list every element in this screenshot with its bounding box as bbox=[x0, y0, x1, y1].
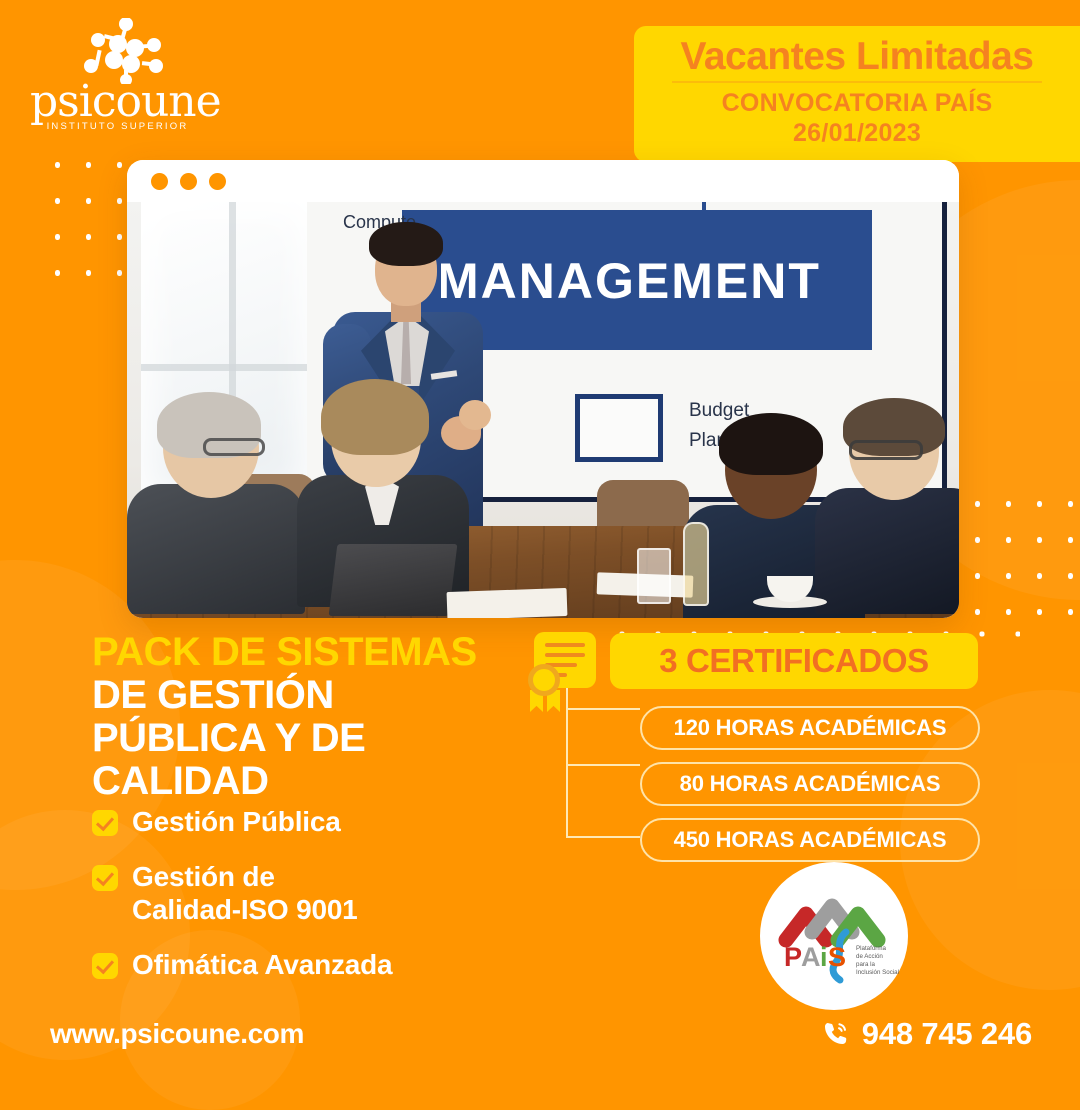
pais-logo-icon: P A i S Plataforma de Acción para la Inc… bbox=[760, 862, 908, 1010]
paper-sheet bbox=[447, 588, 568, 618]
laptop bbox=[329, 544, 458, 616]
svg-text:P: P bbox=[784, 942, 802, 972]
certificate-hours-item: 450 HORAS ACADÉMICAS bbox=[640, 818, 980, 862]
pack-title-line2: DE GESTIÓN bbox=[92, 675, 562, 716]
banner-divider bbox=[672, 81, 1042, 83]
list-item-label: Gestión de Calidad-ISO 9001 bbox=[132, 860, 358, 926]
photo-card: MANAGEMENT Budget Planning Compute bbox=[127, 160, 959, 618]
attendee-figure bbox=[141, 398, 291, 598]
pack-title: PACK DE SISTEMAS DE GESTIÓN PÚBLICA Y DE… bbox=[92, 632, 562, 802]
brand-logo: psicoune INSTITUTO SUPERIOR bbox=[30, 18, 205, 128]
phone-call-icon bbox=[820, 1019, 850, 1049]
molecule-network-icon bbox=[30, 18, 205, 84]
course-list: Gestión Pública Gestión de Calidad-ISO 9… bbox=[92, 805, 562, 1003]
pack-title-line3: PÚBLICA Y DE bbox=[92, 718, 562, 759]
browser-dot-icon[interactable] bbox=[180, 173, 197, 190]
svg-text:S: S bbox=[828, 942, 846, 972]
list-item: Gestión de Calidad-ISO 9001 bbox=[92, 860, 562, 926]
banner-subtitle-line2: 26/01/2023 bbox=[656, 119, 1058, 149]
attendee-figure bbox=[829, 404, 959, 594]
banner-title: Vacantes Limitadas bbox=[656, 36, 1058, 77]
bottle bbox=[683, 522, 709, 606]
check-icon bbox=[92, 953, 118, 979]
brand-name: psicoune bbox=[30, 80, 205, 124]
footer-phone[interactable]: 948 745 246 bbox=[820, 1016, 1032, 1052]
list-item: Gestión Pública bbox=[92, 805, 562, 838]
list-item-label: Ofimática Avanzada bbox=[132, 948, 392, 981]
browser-dot-icon[interactable] bbox=[151, 173, 168, 190]
certificate-hours-item: 80 HORAS ACADÉMICAS bbox=[640, 762, 980, 806]
svg-text:i: i bbox=[820, 942, 828, 972]
check-icon bbox=[92, 810, 118, 836]
pais-tagline-4: Inclusión Social bbox=[856, 969, 899, 976]
pais-tagline-3: para la bbox=[856, 961, 875, 968]
certificate-seal-icon bbox=[528, 664, 560, 696]
footer-phone-number: 948 745 246 bbox=[862, 1016, 1032, 1052]
certificates-title: 3 CERTIFICADOS bbox=[610, 633, 978, 689]
meeting-photo: MANAGEMENT Budget Planning Compute bbox=[127, 202, 959, 618]
pais-tagline-1: Plataforma bbox=[856, 945, 886, 952]
list-item: Ofimática Avanzada bbox=[92, 948, 562, 981]
browser-bar bbox=[127, 160, 959, 202]
svg-text:A: A bbox=[801, 942, 821, 972]
list-item-label: Gestión Pública bbox=[132, 805, 341, 838]
promo-banner: Vacantes Limitadas CONVOCATORIA PAÍS 26/… bbox=[634, 26, 1080, 162]
dot-pattern-right bbox=[958, 482, 1078, 637]
browser-dot-icon[interactable] bbox=[209, 173, 226, 190]
pack-title-line4: CALIDAD bbox=[92, 761, 562, 802]
certificate-hours-item: 120 HORAS ACADÉMICAS bbox=[640, 706, 980, 750]
footer-website[interactable]: www.psicoune.com bbox=[50, 1018, 304, 1050]
banner-subtitle-line1: CONVOCATORIA PAÍS bbox=[656, 89, 1058, 119]
pack-title-line1: PACK DE SISTEMAS bbox=[92, 632, 562, 673]
water-glass bbox=[637, 548, 671, 604]
pais-tagline-2: de Acción bbox=[856, 953, 883, 960]
check-icon bbox=[92, 865, 118, 891]
pais-logo: P A i S Plataforma de Acción para la Inc… bbox=[760, 880, 915, 992]
brand-tagline: INSTITUTO SUPERIOR bbox=[30, 121, 205, 132]
